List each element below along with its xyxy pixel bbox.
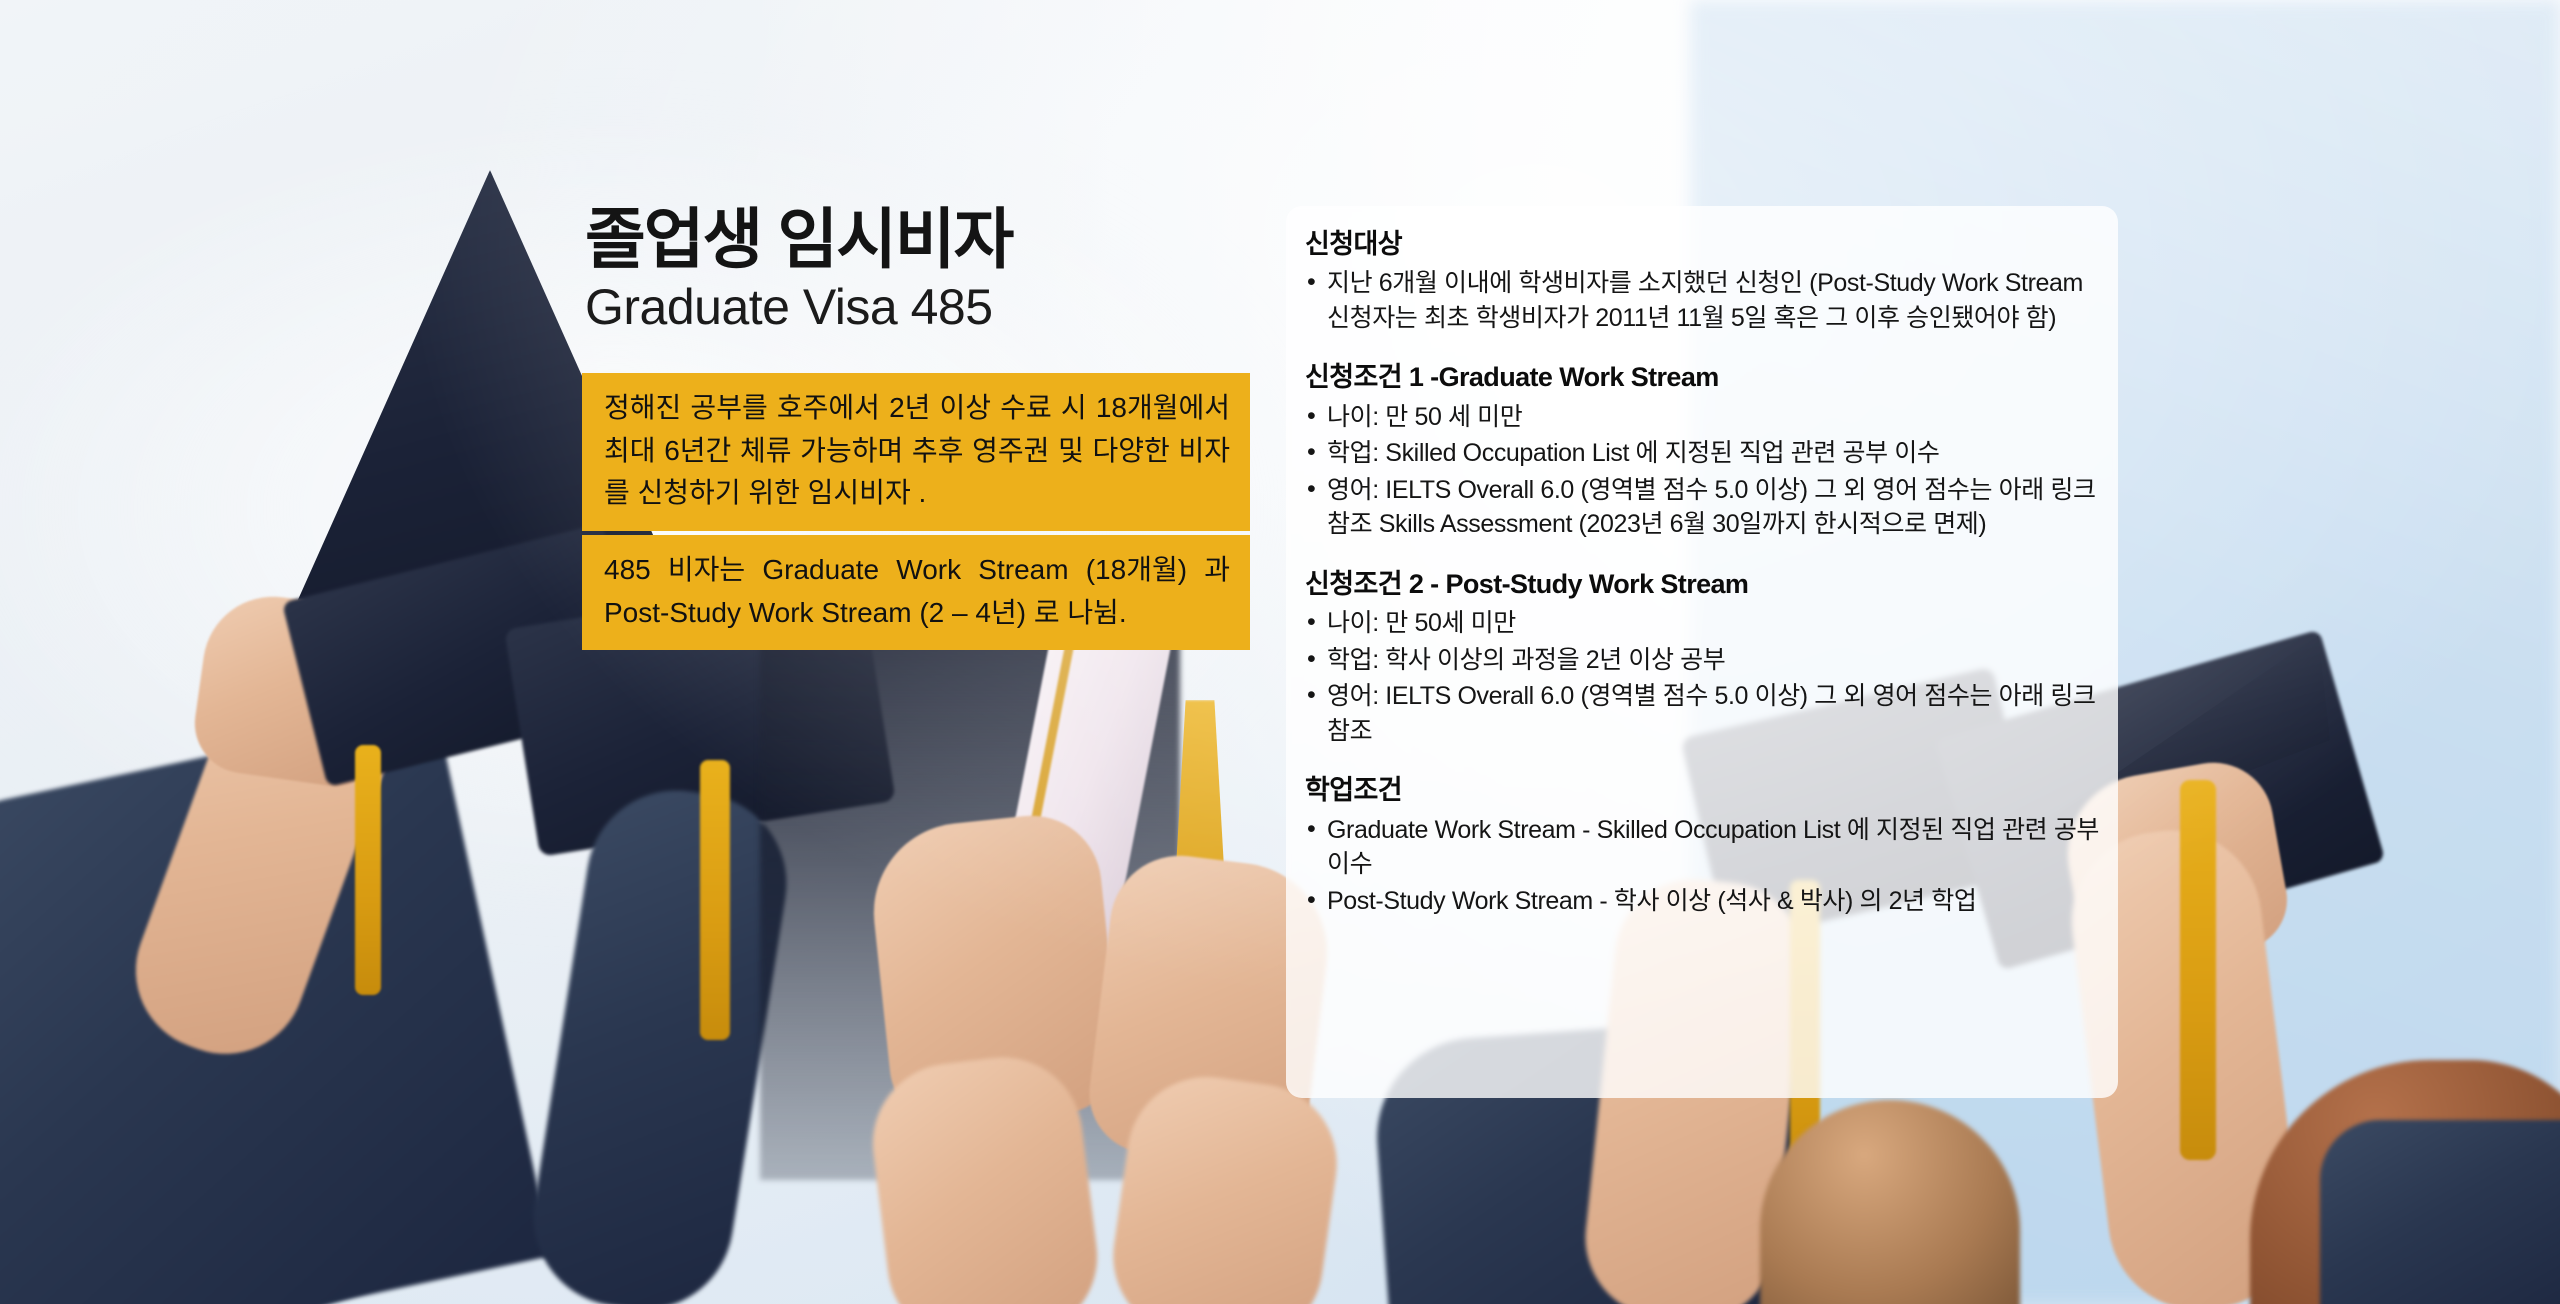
bullet-list-requirements-2: 나이: 만 50세 미만 학업: 학사 이상의 과정을 2년 이상 공부 영어:… <box>1305 606 2105 748</box>
background-photo <box>0 0 2560 1304</box>
bullet-list-requirements-1: 나이: 만 50 세 미만 학업: Skilled Occupation Lis… <box>1305 400 2105 542</box>
list-item: 영어: IELTS Overall 6.0 (영역별 점수 5.0 이상) 그 … <box>1305 473 2105 542</box>
title-block: 졸업생 임시비자 Graduate Visa 485 <box>585 205 1012 337</box>
gown-right <box>2320 1120 2560 1304</box>
list-item: Post-Study Work Stream - 학사 이상 (석사 & 박사)… <box>1305 884 2105 919</box>
page-title-korean: 졸업생 임시비자 <box>585 205 1012 274</box>
section-requirements-2: 신청조건 2 - Post-Study Work Stream 나이: 만 50… <box>1305 568 2105 748</box>
list-item: 나이: 만 50 세 미만 <box>1305 400 2105 435</box>
section-heading-eligibility: 신청대상 <box>1305 228 2105 260</box>
tassel-right <box>2180 780 2216 1160</box>
section-requirements-1: 신청조건 1 -Graduate Work Stream 나이: 만 50 세 … <box>1305 361 2105 541</box>
highlight-callout-visa-streams: 485 비자는 Graduate Work Stream (18개월) 과 Po… <box>582 535 1250 650</box>
bullet-list-eligibility: 지난 6개월 이내에 학생비자를 소지했던 신청인 (Post-Study Wo… <box>1305 266 2105 335</box>
poster-canvas: 졸업생 임시비자 Graduate Visa 485 정해진 공부를 호주에서 … <box>0 0 2560 1304</box>
page-title-english: Graduate Visa 485 <box>585 278 1012 337</box>
section-heading-requirements-1: 신청조건 1 -Graduate Work Stream <box>1305 361 2105 393</box>
list-item: 학업: Skilled Occupation List 에 지정된 직업 관련 … <box>1305 436 2105 471</box>
list-item: 학업: 학사 이상의 과정을 2년 이상 공부 <box>1305 643 2105 678</box>
tassel-left <box>355 745 381 995</box>
info-panel-content: 신청대상 지난 6개월 이내에 학생비자를 소지했던 신청인 (Post-Stu… <box>1305 228 2105 920</box>
highlight-callout-visa-summary: 정해진 공부를 호주에서 2년 이상 수료 시 18개월에서 최대 6년간 체류… <box>582 373 1250 531</box>
list-item: 지난 6개월 이내에 학생비자를 소지했던 신청인 (Post-Study Wo… <box>1305 266 2105 335</box>
bullet-list-study-requirements: Graduate Work Stream - Skilled Occupatio… <box>1305 813 2105 919</box>
list-item: 나이: 만 50세 미만 <box>1305 606 2105 641</box>
section-study-requirements: 학업조건 Graduate Work Stream - Skilled Occu… <box>1305 774 2105 918</box>
tassel-mid-left <box>700 760 730 1040</box>
section-heading-requirements-2: 신청조건 2 - Post-Study Work Stream <box>1305 568 2105 600</box>
section-eligibility: 신청대상 지난 6개월 이내에 학생비자를 소지했던 신청인 (Post-Stu… <box>1305 228 2105 335</box>
list-item: Graduate Work Stream - Skilled Occupatio… <box>1305 813 2105 882</box>
list-item: 영어: IELTS Overall 6.0 (영역별 점수 5.0 이상) 그 … <box>1305 679 2105 748</box>
section-heading-study-requirements: 학업조건 <box>1305 774 2105 806</box>
